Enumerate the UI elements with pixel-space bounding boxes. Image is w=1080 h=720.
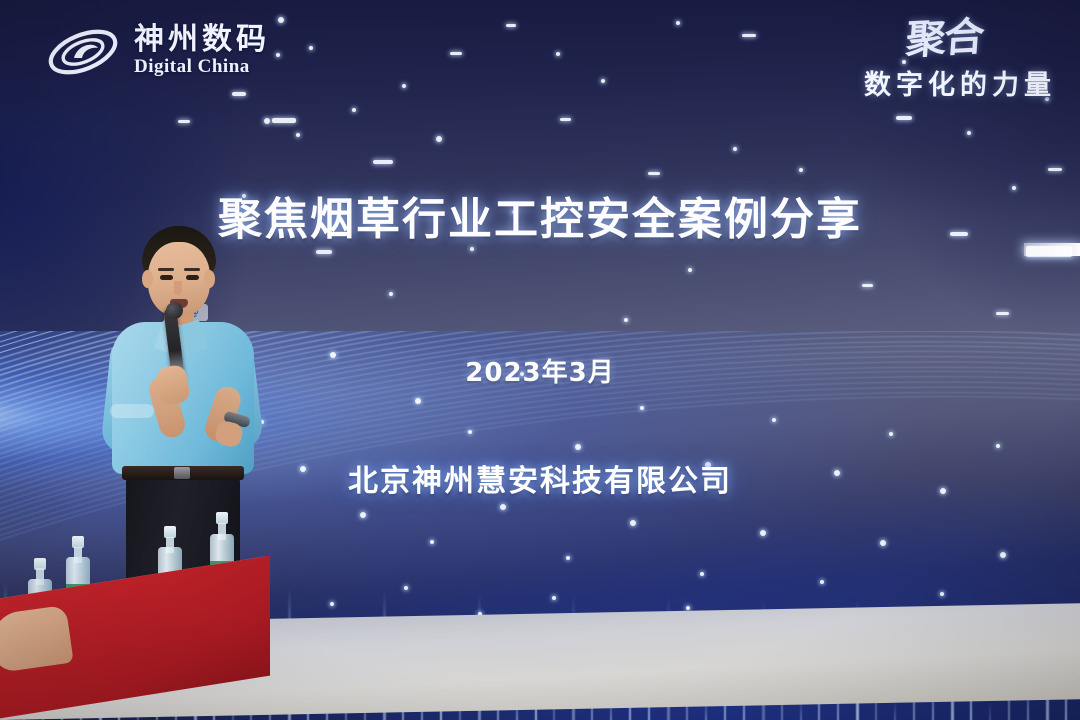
speaker-eyebrow-left xyxy=(158,268,174,271)
light-streak-particle xyxy=(506,24,516,27)
light-particle xyxy=(556,52,560,56)
event-logo: 聚合 数字化的力量 xyxy=(864,22,1056,102)
light-particle xyxy=(360,512,366,518)
event-calligraphy: 聚合 xyxy=(862,19,983,62)
light-particle xyxy=(733,147,737,151)
shirt-sleeve-cuff xyxy=(110,404,154,418)
light-streak-particle xyxy=(1048,168,1062,171)
light-particle xyxy=(624,318,628,322)
speaker-ear-left xyxy=(142,270,153,288)
light-particle xyxy=(601,79,605,83)
light-streak-particle xyxy=(373,160,393,164)
light-particle xyxy=(688,268,692,272)
light-particle xyxy=(276,53,280,57)
light-particle xyxy=(264,118,270,124)
light-particle xyxy=(566,556,570,560)
speaker-nose xyxy=(174,281,182,295)
light-particle xyxy=(470,247,474,251)
light-particle xyxy=(352,108,356,112)
screen-edge-light-bar xyxy=(1024,243,1080,256)
light-particle xyxy=(575,444,581,450)
brand-logo: 神州数码 Digital China xyxy=(44,22,270,82)
brand-name-en: Digital China xyxy=(134,55,270,79)
speaker-eye-left xyxy=(160,275,173,280)
light-particle xyxy=(389,292,393,296)
light-particle xyxy=(700,572,704,576)
conference-photo: 聚焦烟草行业工控安全案例分享 2023年3月 北京神州慧安科技有限公司 神州数码… xyxy=(0,0,1080,720)
light-particle xyxy=(278,17,284,23)
light-particle xyxy=(686,606,690,610)
light-particle xyxy=(296,133,300,137)
light-streak-particle xyxy=(996,312,1009,315)
light-particle xyxy=(630,520,636,526)
light-particle xyxy=(436,136,442,142)
light-particle xyxy=(676,21,680,25)
brand-text: 神州数码 Digital China xyxy=(134,25,270,79)
light-particle xyxy=(430,540,434,544)
light-particle xyxy=(330,602,334,606)
audience-member-arm xyxy=(0,605,74,673)
light-particle xyxy=(404,586,408,590)
light-streak-particle xyxy=(648,172,660,175)
light-streak-particle xyxy=(178,120,190,123)
light-particle xyxy=(309,46,313,50)
light-particle xyxy=(402,84,406,88)
light-particle xyxy=(880,540,886,546)
light-particle xyxy=(640,406,644,410)
light-particle xyxy=(940,592,944,596)
light-streak-particle xyxy=(232,92,246,96)
light-streak-particle xyxy=(560,118,571,121)
light-particle xyxy=(799,168,803,172)
light-streak-particle xyxy=(862,284,873,287)
brand-name-cn: 神州数码 xyxy=(134,25,270,55)
light-particle xyxy=(468,430,472,434)
light-streak-particle xyxy=(450,52,462,55)
light-particle xyxy=(500,504,506,510)
light-particle xyxy=(1000,552,1006,558)
speaker-eyebrow-right xyxy=(184,268,200,271)
light-particle xyxy=(760,530,766,536)
light-streak-particle xyxy=(316,250,332,254)
belt-buckle xyxy=(174,467,190,479)
light-particle xyxy=(820,580,824,584)
speaker-ear-right xyxy=(204,270,215,288)
light-particle xyxy=(967,131,971,135)
light-particle xyxy=(889,432,893,436)
light-streak-particle xyxy=(272,118,296,123)
light-streak-particle xyxy=(896,116,912,120)
light-particle xyxy=(552,596,556,600)
light-particle xyxy=(772,418,776,422)
digital-china-swoosh-icon xyxy=(44,22,122,82)
light-particle xyxy=(996,444,1000,448)
stream-falling-line xyxy=(989,702,991,720)
event-subtitle: 数字化的力量 xyxy=(864,63,1056,102)
light-particle xyxy=(415,398,421,404)
light-streak-particle xyxy=(742,34,756,37)
speaker-eye-right xyxy=(186,275,199,280)
